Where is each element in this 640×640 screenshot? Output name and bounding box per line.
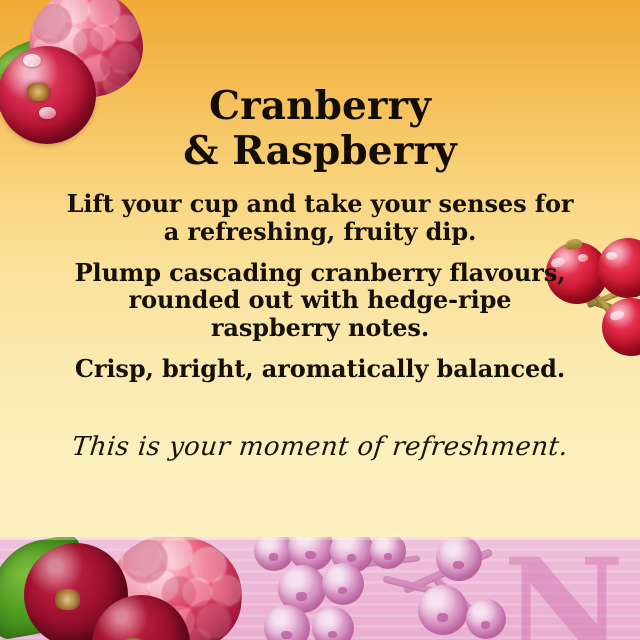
description-paragraph: Crisp, bright, aromatically balanced. (0, 355, 640, 383)
dew-drop-icon (23, 54, 41, 67)
currant-icon (370, 537, 406, 569)
bottom-fruit-band: N (0, 537, 640, 640)
currant-icon (466, 599, 506, 639)
currant-icon (322, 563, 364, 605)
description-paragraph: Lift your cup and take your senses for a… (0, 190, 640, 246)
description-paragraph: Plump cascading cranberry flavours, roun… (0, 259, 640, 342)
product-poster: Cranberry & Raspberry Lift your cup and … (0, 0, 640, 640)
title-line-1: Cranberry (209, 83, 431, 129)
cranberry-navel (55, 589, 80, 610)
description-block: Lift your cup and take your senses for a… (0, 190, 640, 383)
currant-icon (312, 607, 354, 640)
band-top-edge (0, 537, 640, 540)
watermark-letter: N (503, 542, 626, 640)
title-line-2: & Raspberry (0, 129, 640, 173)
currant-icon (418, 585, 468, 635)
tagline: This is your moment of refreshment. (0, 432, 640, 462)
currant-icon (436, 537, 482, 581)
page-title: Cranberry & Raspberry (0, 84, 640, 173)
currant-cluster (250, 537, 510, 640)
